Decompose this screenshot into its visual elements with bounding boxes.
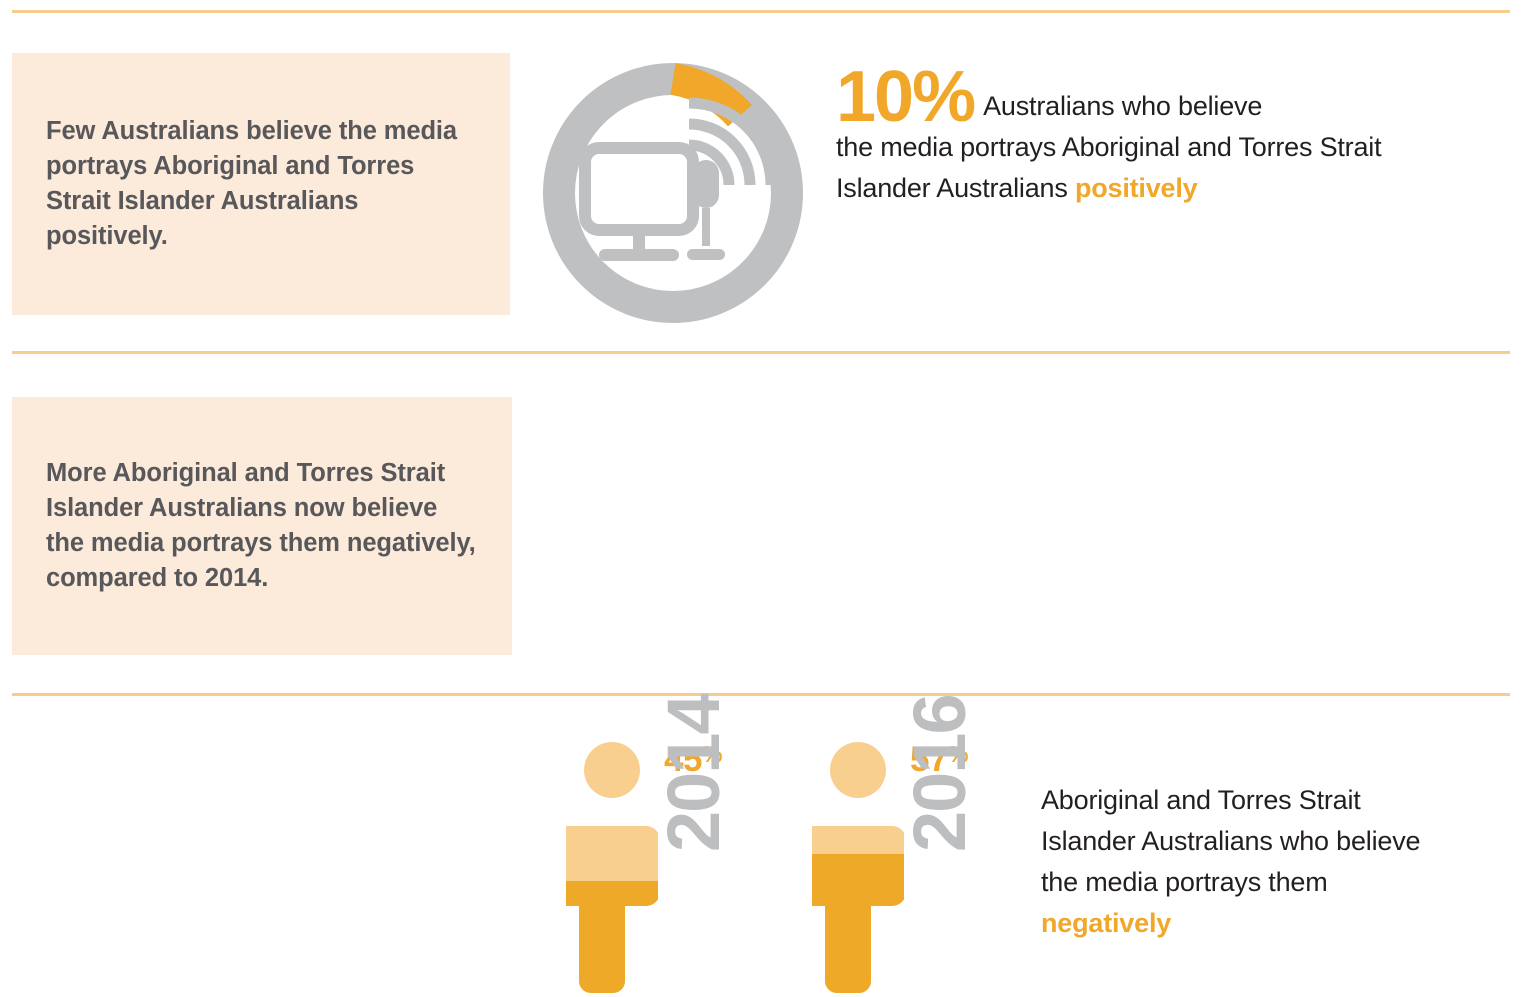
donut-chart-positive [543, 63, 803, 323]
callout-text-positive: 10%Australians who believethe media port… [836, 67, 1436, 209]
statement-text-negative: More Aboriginal and Torres Strait Island… [46, 456, 478, 596]
statement-panel-negative: More Aboriginal and Torres Strait Island… [12, 397, 512, 655]
section-media-positive: Few Australians believe the media portra… [0, 11, 1528, 351]
person-figure-group-2016: 57% 2016 [812, 742, 1012, 997]
section-media-negative: More Aboriginal and Torres Strait Island… [0, 352, 1528, 693]
statement-panel-positive: Few Australians believe the media portra… [12, 53, 510, 315]
divider-bottom [12, 693, 1510, 696]
caption-negative: Aboriginal and Torres Strait Islander Au… [1041, 780, 1441, 944]
person-year-label-2014: 2014 [658, 642, 730, 852]
caption-rest-negative: Aboriginal and Torres Strait Islander Au… [1041, 785, 1420, 897]
caption-keyword-negative: negatively [1041, 908, 1171, 938]
person-pictogram-2016 [812, 742, 904, 995]
person-figure-group-2014: 45% 2014 [566, 742, 766, 997]
person-pictogram-2014 [566, 742, 658, 995]
callout-keyword-positive: positively [1075, 173, 1198, 203]
callout-positive: 10%Australians who believethe media port… [836, 67, 1436, 209]
statement-text-positive: Few Australians believe the media portra… [46, 114, 476, 254]
tv-microphone-icon [585, 103, 771, 261]
stat-value-positive: 10% [836, 57, 983, 137]
person-year-label-2016: 2016 [904, 642, 976, 852]
callout-lead-positive: Australians who believe [983, 91, 1262, 121]
